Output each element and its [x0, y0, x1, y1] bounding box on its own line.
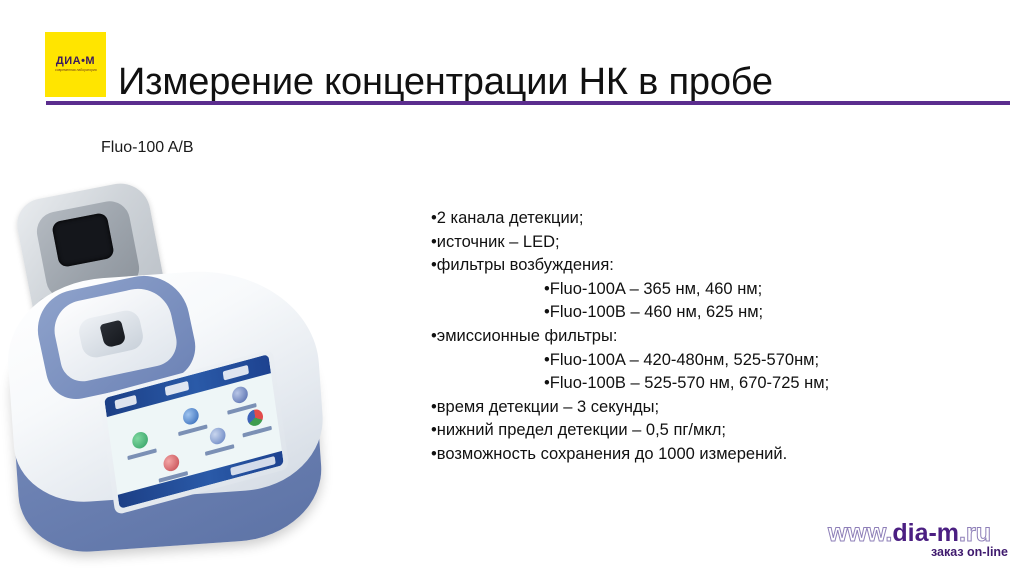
app-icon-concentration[interactable]: [131, 430, 149, 450]
spec-line: •возможность сохранения до 1000 измерени…: [431, 443, 951, 467]
spec-line-text: Fluo-100B – 525-570 нм, 670-725 нм;: [550, 374, 829, 392]
footer-url-tld: ru: [966, 519, 991, 547]
spec-line-text: 2 канала детекции;: [437, 209, 584, 227]
app-label-concentration: [127, 448, 157, 460]
spec-line: •Fluo-100B – 460 нм, 625 нм;: [431, 301, 951, 325]
product-label: Fluo-100 A/B: [101, 139, 194, 157]
spec-line: •Fluo-100B – 525-570 нм, 670-725 нм;: [431, 372, 951, 396]
header-divider: [46, 101, 1010, 105]
footer-tagline: заказ on-line: [931, 545, 1008, 559]
spec-line-text: время детекции – 3 секунды;: [437, 398, 659, 416]
spec-line-text: Fluo-100B – 460 нм, 625 нм;: [550, 303, 763, 321]
spec-line: •время детекции – 3 секунды;: [431, 396, 951, 420]
spec-line: •источник – LED;: [431, 231, 951, 255]
spec-line-text: нижний предел детекции – 0,5 пг/мкл;: [437, 421, 726, 439]
spec-line-text: Fluo-100A – 365 нм, 460 нм;: [550, 280, 762, 298]
app-icon-dna[interactable]: [231, 385, 249, 405]
app-icon-custom[interactable]: [246, 408, 264, 428]
footer-url-dot: .: [959, 519, 966, 547]
instrument-photo: [8, 186, 328, 562]
app-icon-rna[interactable]: [163, 453, 181, 473]
brand-logo: ДИА•М современная лаборатория: [45, 32, 106, 97]
brand-logo-wordmark: ДИА•М: [56, 56, 95, 67]
page-title: Измерение концентрации НК в пробе: [118, 61, 773, 104]
spec-line: •Fluo-100A – 365 нм, 460 нм;: [431, 278, 951, 302]
app-icon-rgb[interactable]: [209, 426, 227, 446]
footer-url-main: dia-m: [892, 519, 959, 547]
footer-logo[interactable]: www.dia-m.ru заказ on-line: [828, 519, 1010, 565]
footer-url-prefix: www.: [828, 519, 892, 547]
spec-list: •2 канала детекции;•источник – LED;•филь…: [431, 207, 951, 467]
app-icon-protein[interactable]: [182, 406, 200, 426]
spec-line: •фильтры возбуждения:: [431, 254, 951, 278]
spec-line: •2 канала детекции;: [431, 207, 951, 231]
spec-line-text: источник – LED;: [437, 233, 560, 251]
spec-line: •эмиссионные фильтры:: [431, 325, 951, 349]
spec-line-text: Fluo-100A – 420-480нм, 525-570нм;: [550, 351, 819, 369]
app-label-protein: [178, 424, 208, 436]
brand-logo-tagline: современная лаборатория: [55, 69, 97, 72]
footer-url[interactable]: www.dia-m.ru: [828, 519, 991, 547]
app-label-custom: [242, 426, 272, 438]
spec-line-text: эмиссионные фильтры:: [437, 327, 618, 345]
spec-line-text: возможность сохранения до 1000 измерений…: [437, 445, 787, 463]
app-label-rgb: [205, 444, 235, 456]
slide-header: ДИА•М современная лаборатория Измерение …: [0, 0, 1024, 112]
spec-line: •нижний предел детекции – 0,5 пг/мкл;: [431, 419, 951, 443]
spec-line-text: фильтры возбуждения:: [437, 256, 614, 274]
spec-line: •Fluo-100A – 420-480нм, 525-570нм;: [431, 349, 951, 373]
